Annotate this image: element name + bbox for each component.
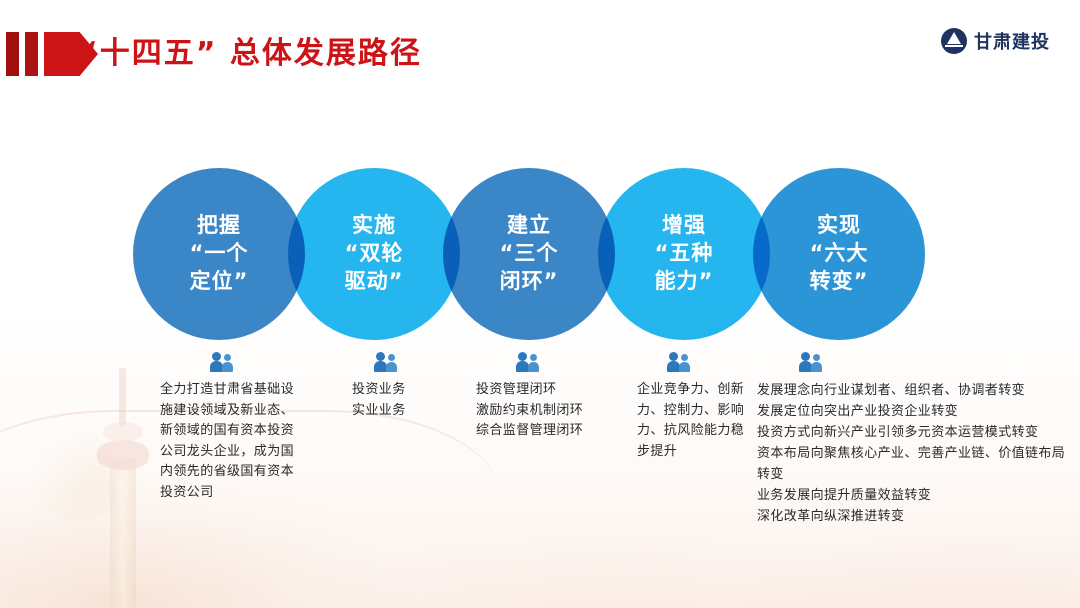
people-icon — [516, 352, 542, 372]
caption-4-text: 企业竞争力、创新力、控制力、影响力、抗风险能力稳步提升 — [637, 380, 747, 462]
circle-row: 把握 “一个 定位” 实施 “双轮 驱动” 建立 “三个 闭环” 增强 “五种 … — [0, 168, 1080, 340]
circle-2-line-2: “双轮 — [345, 240, 404, 268]
caption-2: 投资业务 实业业务 — [352, 352, 482, 421]
slide-canvas: “十四五” 总体发展路径 甘肃建投 把握 “一个 定位” 实施 “双轮 驱动” … — [0, 0, 1080, 608]
circle-5-line-2: “六大 — [810, 240, 869, 268]
circle-2[interactable]: 实施 “双轮 驱动” — [288, 168, 460, 340]
circle-2-line-1: 实施 — [352, 212, 396, 240]
circle-5-line-3: 转变” — [810, 268, 869, 296]
circle-4-line-2: “五种 — [655, 240, 714, 268]
circle-1-line-2: “一个 — [190, 240, 249, 268]
circle-3-line-3: 闭环” — [500, 268, 559, 296]
circle-3-line-1: 建立 — [507, 212, 551, 240]
caption-row: 全力打造甘肃省基础设施建设领域及新业态、新领域的国有资本投资公司龙头企业，成为国… — [0, 352, 1080, 562]
slide-header: “十四五” 总体发展路径 甘肃建投 — [0, 0, 1080, 90]
caption-3-text: 投资管理闭环 激励约束机制闭环 综合监督管理闭环 — [476, 380, 626, 442]
people-icon — [667, 352, 693, 372]
circle-1-line-1: 把握 — [197, 212, 241, 240]
gansu-jiantou-logo-icon — [941, 28, 967, 54]
caption-1-text: 全力打造甘肃省基础设施建设领域及新业态、新领域的国有资本投资公司龙头企业，成为国… — [160, 380, 306, 503]
caption-5: 发展理念向行业谋划者、组织者、协调者转变 发展定位向突出产业投资企业转变 投资方… — [757, 352, 1077, 527]
brand-lockup: 甘肃建投 — [941, 28, 1050, 54]
page-title: “十四五” 总体发展路径 — [78, 28, 422, 72]
circle-2-line-3: 驱动” — [345, 268, 404, 296]
caption-2-text: 投资业务 实业业务 — [352, 380, 482, 421]
circle-5-line-1: 实现 — [817, 212, 861, 240]
caption-1: 全力打造甘肃省基础设施建设领域及新业态、新领域的国有资本投资公司龙头企业，成为国… — [160, 352, 306, 503]
people-icon — [210, 352, 236, 372]
people-icon — [374, 352, 400, 372]
people-icon — [799, 352, 825, 372]
caption-4: 企业竞争力、创新力、控制力、影响力、抗风险能力稳步提升 — [637, 352, 747, 462]
circle-1[interactable]: 把握 “一个 定位” — [133, 168, 305, 340]
circle-4-line-3: 能力” — [655, 268, 714, 296]
caption-5-text: 发展理念向行业谋划者、组织者、协调者转变 发展定位向突出产业投资企业转变 投资方… — [757, 380, 1077, 527]
brand-name-label: 甘肃建投 — [974, 28, 1050, 54]
circle-4[interactable]: 增强 “五种 能力” — [598, 168, 770, 340]
circle-3[interactable]: 建立 “三个 闭环” — [443, 168, 615, 340]
circle-4-line-1: 增强 — [662, 212, 706, 240]
caption-3: 投资管理闭环 激励约束机制闭环 综合监督管理闭环 — [476, 352, 626, 442]
circle-1-line-3: 定位” — [190, 268, 249, 296]
circle-5[interactable]: 实现 “六大 转变” — [753, 168, 925, 340]
circle-3-line-2: “三个 — [500, 240, 559, 268]
